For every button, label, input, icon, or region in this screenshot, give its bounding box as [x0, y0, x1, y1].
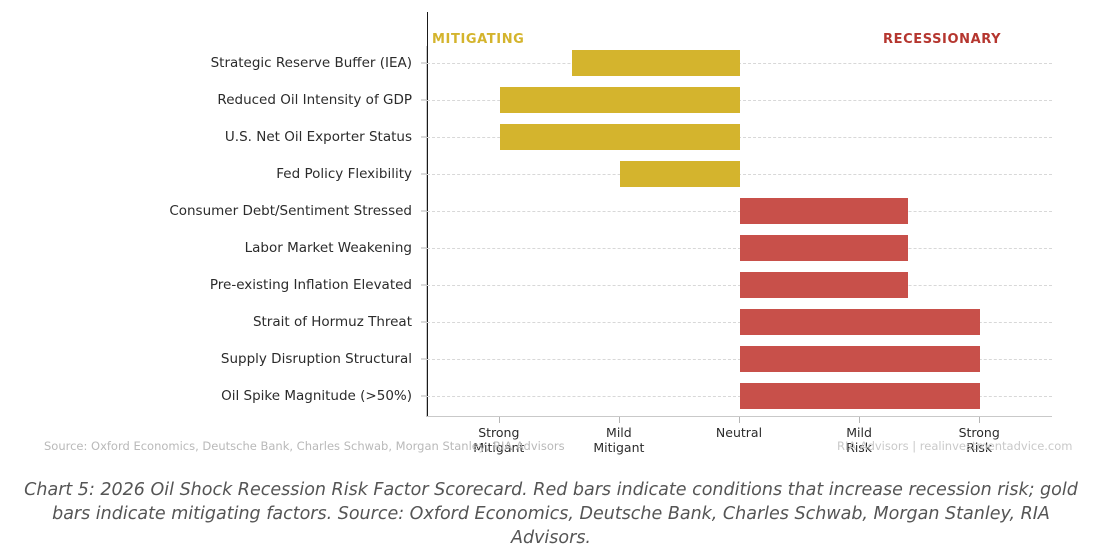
bar-recessionary[interactable] [740, 198, 908, 224]
x-axis-tick [619, 417, 620, 423]
y-axis-label: Pre-existing Inflation Elevated [210, 277, 412, 293]
x-axis-tick [979, 417, 980, 423]
bar-recessionary[interactable] [740, 309, 980, 335]
x-axis-tick [859, 417, 860, 423]
plot-area [426, 46, 1052, 417]
y-axis-label: Consumer Debt/Sentiment Stressed [169, 203, 412, 219]
zero-axis-line [427, 12, 428, 416]
bar-mitigating[interactable] [572, 50, 740, 76]
chart-caption: Chart 5: 2026 Oil Shock Recession Risk F… [24, 478, 1078, 550]
mitigating-header-label: MITIGATING [432, 32, 524, 47]
y-axis-label: Oil Spike Magnitude (>50%) [221, 388, 412, 404]
y-axis-label: Reduced Oil Intensity of GDP [217, 92, 412, 108]
y-axis-label: Strategic Reserve Buffer (IEA) [211, 55, 412, 71]
y-axis-labels: Strategic Reserve Buffer (IEA)Reduced Oi… [0, 46, 420, 417]
bar-recessionary[interactable] [740, 235, 908, 261]
y-axis-label: Supply Disruption Structural [221, 351, 412, 367]
bar-mitigating[interactable] [500, 124, 740, 150]
y-axis-label: Fed Policy Flexibility [276, 166, 412, 182]
x-axis-tick [499, 417, 500, 423]
x-axis-tick-label: MildMitigant [593, 425, 644, 455]
x-axis-tick-label: Neutral [716, 425, 762, 440]
watermark: RIA Advisors | realinvestmentadvice.com [837, 439, 1073, 453]
x-axis-tick [739, 417, 740, 423]
y-axis-label: U.S. Net Oil Exporter Status [225, 129, 412, 145]
bar-mitigating[interactable] [620, 161, 740, 187]
y-axis-label: Strait of Hormuz Threat [253, 314, 412, 330]
y-axis-label: Labor Market Weakening [245, 240, 412, 256]
bar-recessionary[interactable] [740, 383, 980, 409]
bar-recessionary[interactable] [740, 346, 980, 372]
bar-recessionary[interactable] [740, 272, 908, 298]
chart-figure: MITIGATING RECESSIONARY Strategic Reserv… [0, 0, 1102, 470]
source-note: Source: Oxford Economics, Deutsche Bank,… [44, 439, 565, 453]
bar-mitigating[interactable] [500, 87, 740, 113]
recessionary-header-label: RECESSIONARY [883, 32, 1001, 47]
